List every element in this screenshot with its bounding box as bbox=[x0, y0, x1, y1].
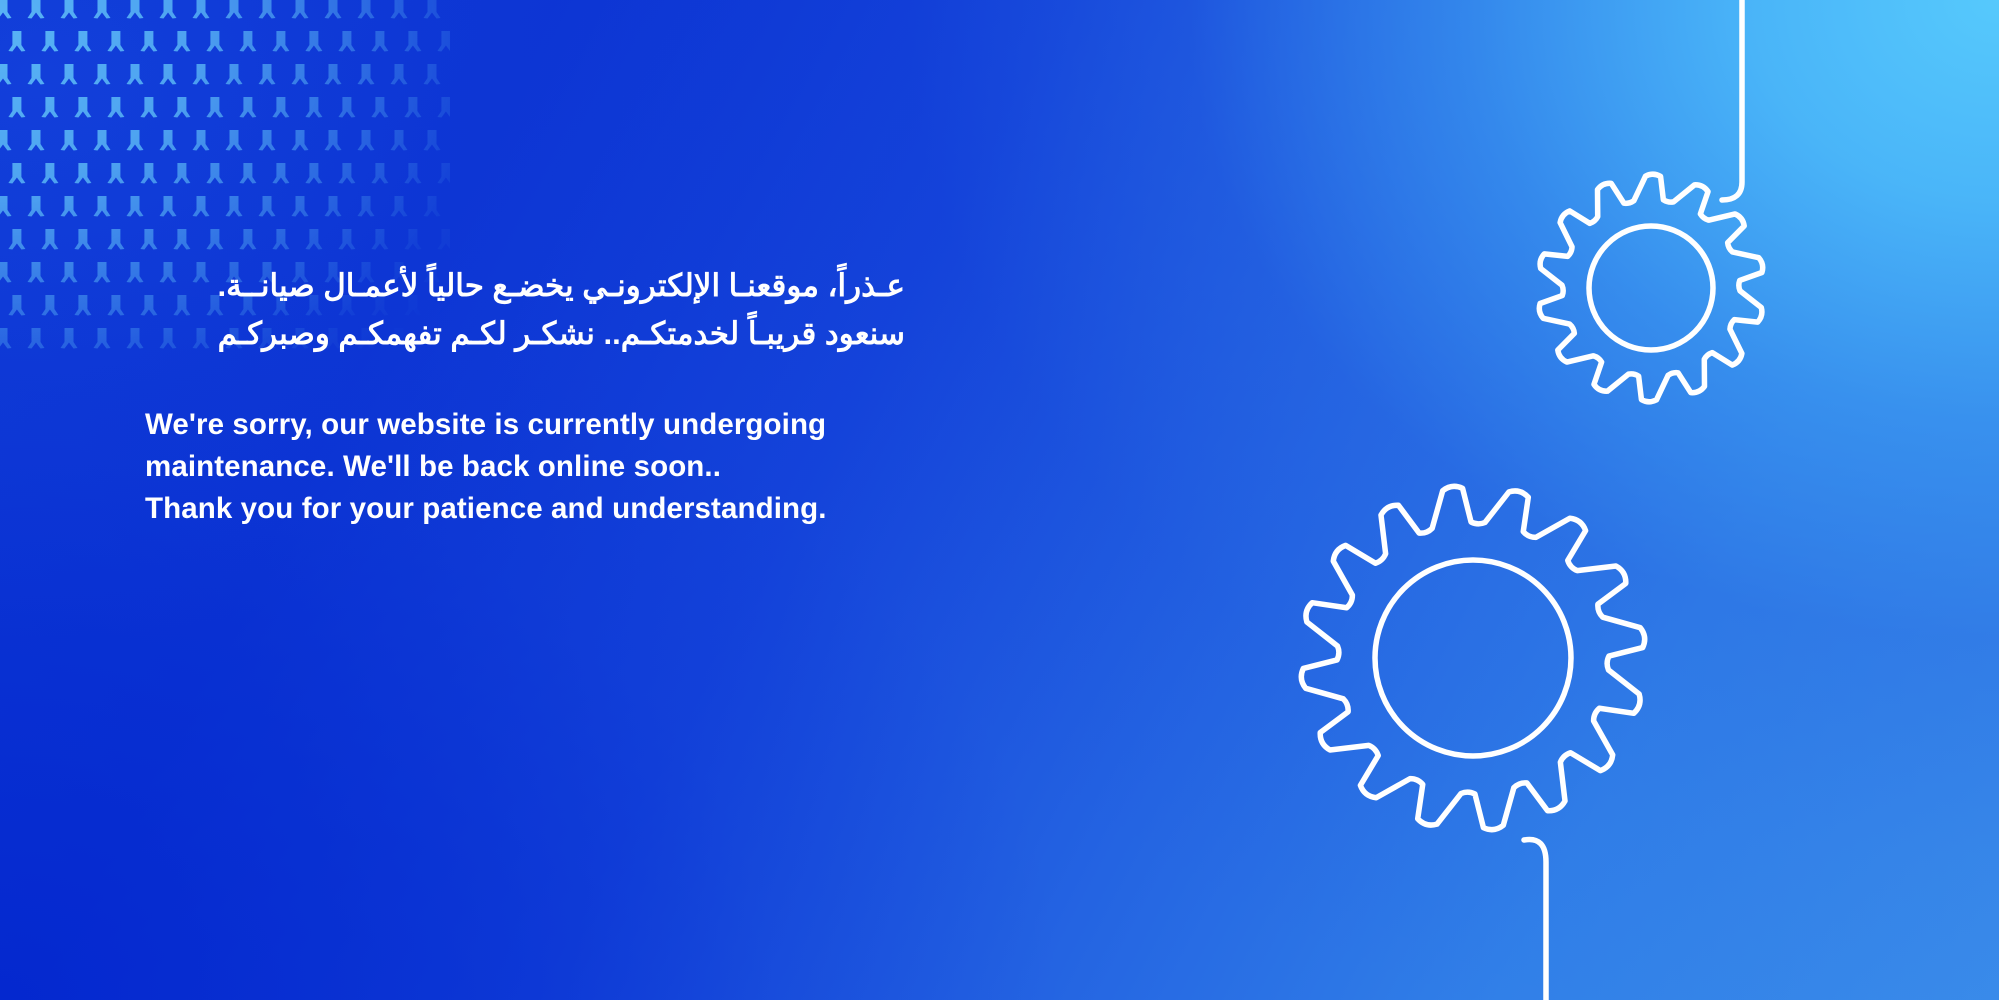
arabic-message-line-1: عـذراً، موقعنـا الإلكترونـي يخضـع حالياً… bbox=[145, 262, 905, 310]
maintenance-message: عـذراً، موقعنـا الإلكترونـي يخضـع حالياً… bbox=[145, 262, 905, 530]
english-message-line-1: We're sorry, our website is currently un… bbox=[145, 404, 905, 446]
english-message: We're sorry, our website is currently un… bbox=[145, 404, 905, 530]
arabic-message: عـذراً، موقعنـا الإلكترونـي يخضـع حالياً… bbox=[145, 262, 905, 358]
english-message-line-3: Thank you for your patience and understa… bbox=[145, 488, 905, 530]
arabic-message-line-2: سنعود قريبـاً لخدمتكـم.. نشكـر لكـم تفهم… bbox=[145, 310, 905, 358]
maintenance-page: عـذراً، موقعنـا الإلكترونـي يخضـع حالياً… bbox=[0, 0, 1999, 1000]
english-message-line-2: maintenance. We'll be back online soon.. bbox=[145, 446, 905, 488]
